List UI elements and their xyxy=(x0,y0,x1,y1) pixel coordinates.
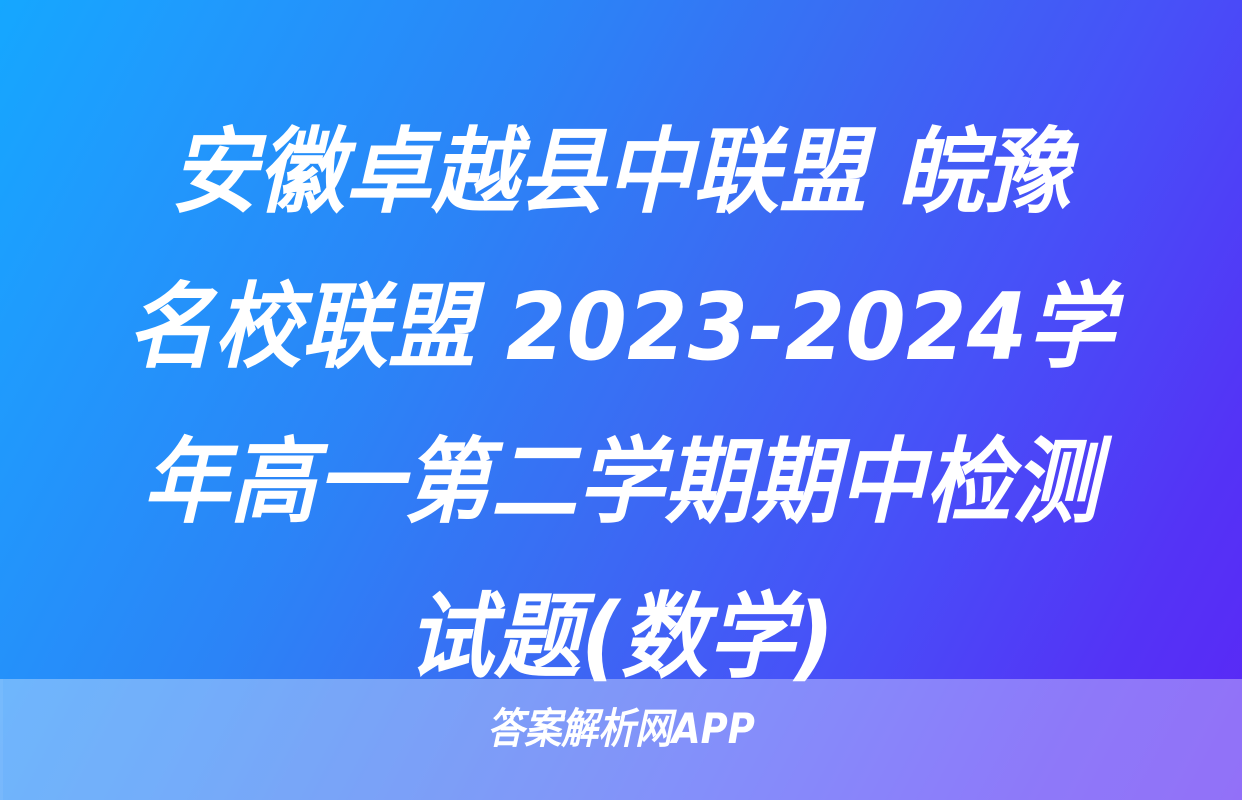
title-line-1: 安徽卓越县中联盟 皖豫 xyxy=(43,95,1198,250)
exam-cover-banner: 安徽卓越县中联盟 皖豫 名校联盟 2023-2024学 年高一第二学期期中检测 … xyxy=(0,0,1242,800)
page-title: 安徽卓越县中联盟 皖豫 名校联盟 2023-2024学 年高一第二学期期中检测 … xyxy=(0,0,1242,715)
title-line-3: 年高一第二学期期中检测 xyxy=(43,405,1198,560)
title-line-2: 名校联盟 2023-2024学 xyxy=(43,250,1198,405)
bottom-overlay-band xyxy=(0,679,1242,800)
band-left-edge xyxy=(0,679,3,800)
